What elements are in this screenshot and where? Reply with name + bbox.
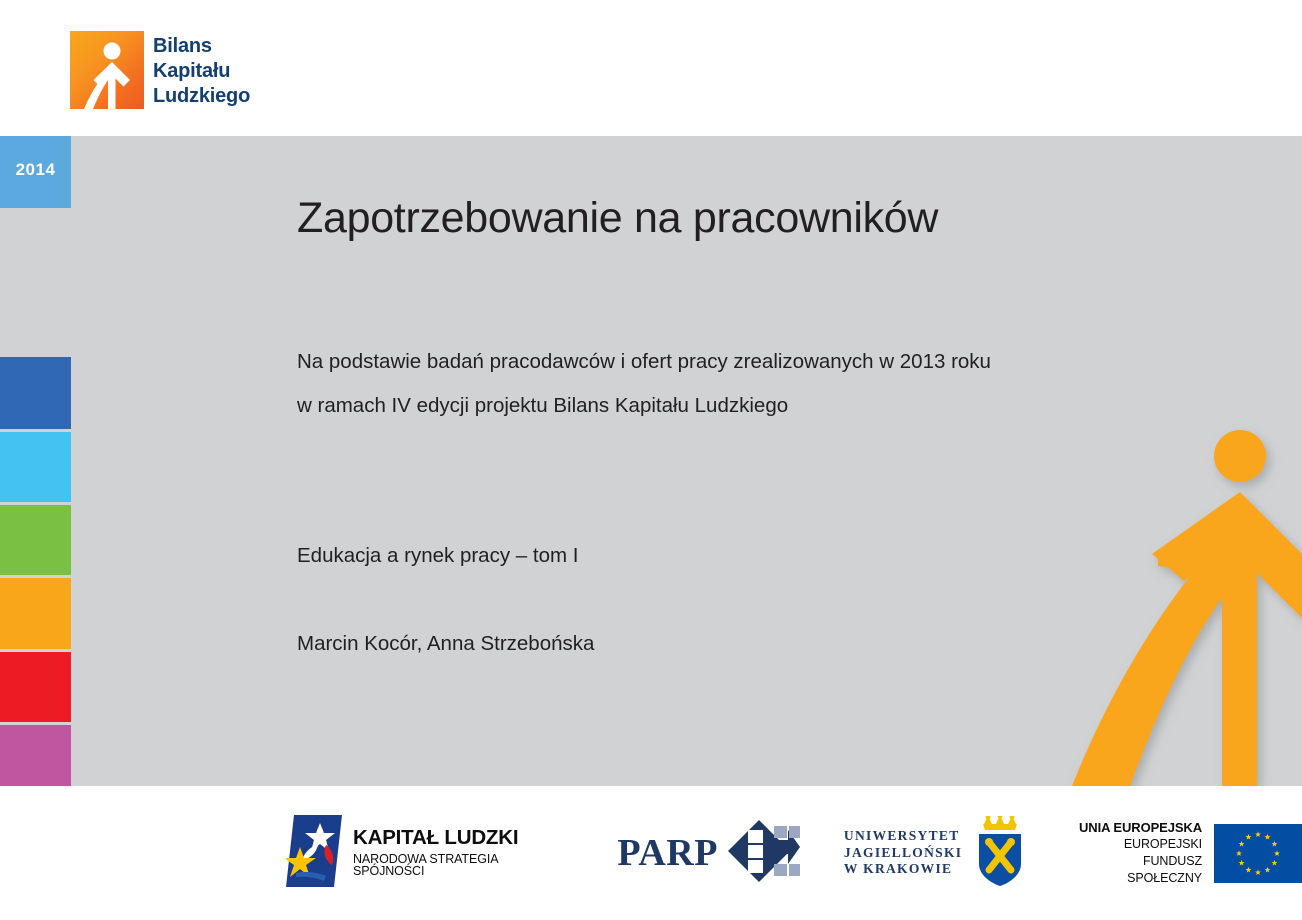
subtitle-line-1: Na podstawie badań pracodawców i ofert p…	[297, 340, 991, 384]
logo-unia-europejska: UNIA EUROPEJSKA EUROPEJSKI FUNDUSZ SPOŁE…	[1067, 817, 1302, 889]
mosaic-cell-orange	[0, 578, 71, 649]
mosaic-cell-r3c3	[144, 284, 215, 354]
mosaic-cell-year-badge: 2014	[0, 136, 71, 208]
subtitle: Na podstawie badań pracodawców i ofert p…	[297, 340, 991, 428]
uj-text-stack: UNIWERSYTET JAGIELLOŃSKI W KRAKOWIE	[844, 828, 962, 879]
logo-kapital-ludzki: KAPITAŁ LUDZKI NARODOWA STRATEGIA SPÓJNO…	[286, 817, 569, 889]
kl-stars-icon	[286, 815, 342, 892]
logo-parp: PARP	[617, 817, 800, 889]
mosaic-cell-r2c2	[74, 211, 140, 281]
mosaic-cell-r9c3	[144, 725, 215, 786]
brand-wordmark-line-1: Bilans	[153, 34, 373, 59]
person-arrow-icon	[70, 31, 144, 109]
logo-uniwersytet-jagiellonski: UNIWERSYTET JAGIELLOŃSKI W KRAKOWIE	[844, 817, 1027, 889]
person-arrow-icon	[1052, 406, 1302, 786]
mosaic-grid: 2014	[0, 136, 218, 786]
parp-diamond-icon	[728, 820, 800, 887]
mosaic-cell-r1c2	[74, 136, 140, 208]
eu-line-3: FUNDUSZ SPOŁECZNY	[1067, 853, 1202, 887]
year-badge-label: 2014	[0, 160, 71, 180]
kl-subtitle: NARODOWA STRATEGIA SPÓJNOŚCI	[353, 853, 569, 878]
mosaic-cell-r8c2	[74, 652, 140, 722]
brand-header: Bilans Kapitału Ludzkiego	[0, 0, 1302, 136]
page-title: Zapotrzebowanie na pracowników	[297, 194, 938, 243]
mosaic-cell-magenta	[0, 725, 71, 786]
mosaic-cell-r7c3	[144, 578, 215, 649]
mosaic-cell-r2c3	[144, 211, 215, 281]
main-panel: 2014 Zapotrzebowanie na pracowników	[0, 136, 1302, 786]
eu-text-stack: UNIA EUROPEJSKA EUROPEJSKI FUNDUSZ SPOŁE…	[1067, 819, 1202, 887]
mosaic-cell-r9c2	[74, 725, 140, 786]
mosaic-cell-r1c3	[144, 136, 215, 208]
mosaic-cell-green	[0, 505, 71, 575]
uj-crest-icon	[973, 816, 1027, 891]
mosaic-cell-r2c1	[0, 211, 71, 281]
mosaic-cell-r7c2	[74, 578, 140, 649]
mosaic-cell-r3c2	[74, 284, 140, 354]
mosaic-cell-r8c3	[144, 652, 215, 722]
kl-text-stack: KAPITAŁ LUDZKI NARODOWA STRATEGIA SPÓJNO…	[353, 828, 569, 878]
footer-logo-strip: KAPITAŁ LUDZKI NARODOWA STRATEGIA SPÓJNO…	[0, 786, 1302, 920]
uj-line-3: W KRAKOWIE	[844, 861, 962, 878]
mosaic-cell-red	[0, 652, 71, 722]
mosaic-cell-merged-r4r6	[74, 357, 215, 575]
uj-line-2: JAGIELLOŃSKI	[844, 845, 962, 862]
brand-wordmark-line-3: Ludzkiego	[153, 84, 373, 109]
eu-line-2: EUROPEJSKI	[1067, 836, 1202, 853]
authors-label: Marcin Kocór, Anna Strzebońska	[297, 632, 594, 656]
eu-line-1: UNIA EUROPEJSKA	[1067, 819, 1202, 837]
brand-wordmark-line-2: Kapitału	[153, 59, 373, 84]
series-label: Edukacja a rynek pracy – tom I	[297, 544, 578, 568]
subtitle-line-2: w ramach IV edycji projektu Bilans Kapit…	[297, 384, 991, 428]
parp-wordmark: PARP	[617, 831, 718, 875]
mosaic-cell-royal-blue	[0, 357, 71, 429]
kl-title: KAPITAŁ LUDZKI	[353, 828, 569, 849]
mosaic-cell-r3c1	[0, 284, 71, 354]
brand-wordmark: Bilans Kapitału Ludzkiego	[153, 34, 373, 109]
mosaic-cell-cyan	[0, 432, 71, 502]
uj-line-1: UNIWERSYTET	[844, 828, 962, 845]
eu-flag-icon	[1214, 824, 1302, 883]
